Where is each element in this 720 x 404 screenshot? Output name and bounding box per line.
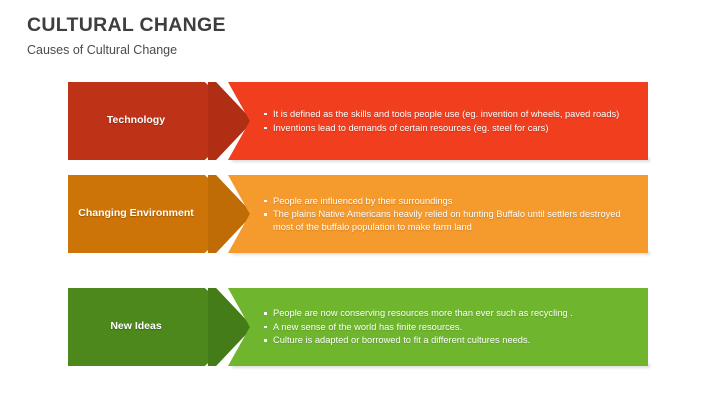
bullet-item: People are influenced by their surroundi… <box>264 195 638 208</box>
process-row: Changing EnvironmentPeople are influence… <box>0 175 720 253</box>
process-row: TechnologyIt is defined as the skills an… <box>0 82 720 160</box>
content-band[interactable]: People are now conserving resources more… <box>228 288 648 366</box>
page-subtitle: Causes of Cultural Change <box>27 43 687 57</box>
bullet-list: People are now conserving resources more… <box>264 288 638 366</box>
bullet-item: People are now conserving resources more… <box>264 307 638 320</box>
bullet-item: Inventions lead to demands of certain re… <box>264 122 638 135</box>
bullet-item: A new sense of the world has finite reso… <box>264 321 638 334</box>
slide-header: CULTURAL CHANGE Causes of Cultural Chang… <box>27 14 687 58</box>
slide-canvas: CULTURAL CHANGE Causes of Cultural Chang… <box>0 0 720 404</box>
content-band[interactable]: People are influenced by their surroundi… <box>228 175 648 253</box>
content-band[interactable]: It is defined as the skills and tools pe… <box>228 82 648 160</box>
process-row: New IdeasPeople are now conserving resou… <box>0 288 720 366</box>
bullet-item: It is defined as the skills and tools pe… <box>264 108 638 121</box>
category-label-text: Technology <box>72 114 200 127</box>
bullet-list: People are influenced by their surroundi… <box>264 175 638 253</box>
category-label-text: New Ideas <box>72 320 200 333</box>
bullet-list: It is defined as the skills and tools pe… <box>264 82 638 160</box>
page-title: CULTURAL CHANGE <box>27 14 687 36</box>
bullet-item: Culture is adapted or borrowed to fit a … <box>264 334 638 347</box>
bullet-item: The plains Native Americans heavily reli… <box>264 208 638 233</box>
category-label-text: Changing Environment <box>72 207 200 220</box>
